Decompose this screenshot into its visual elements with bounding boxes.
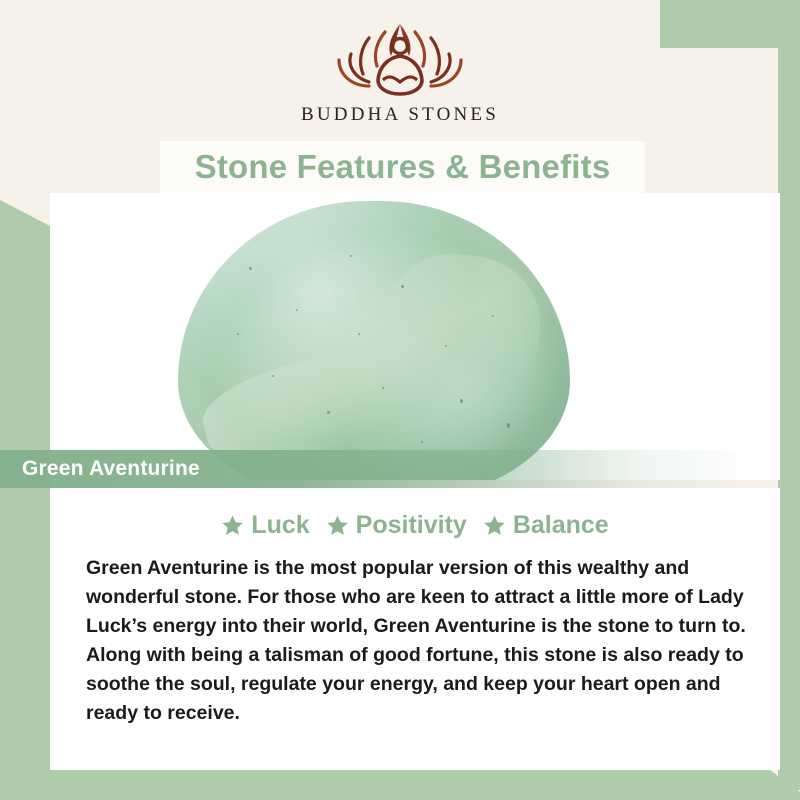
keyword-balance: Balance <box>483 511 609 540</box>
brand-name: BUDDHA STONES <box>280 104 520 126</box>
stone-name-label: Green Aventurine <box>22 457 200 481</box>
stone-description: Green Aventurine is the most popular ver… <box>50 554 780 728</box>
brand-logo: BUDDHA STONES <box>280 16 520 126</box>
keyword-positivity: Positivity <box>326 511 467 540</box>
keyword-label: Luck <box>251 511 309 540</box>
keyword-luck: Luck <box>221 511 309 540</box>
star-icon <box>326 514 349 537</box>
green-aventurine-stone-image <box>178 201 570 480</box>
star-icon <box>483 514 506 537</box>
keyword-label: Balance <box>513 511 609 540</box>
frame-band-left <box>0 200 50 780</box>
stone-image-stage <box>50 193 780 480</box>
stone-label-banner: Green Aventurine <box>0 450 760 488</box>
keyword-label: Positivity <box>356 511 467 540</box>
content-area: Luck Positivity Balance Green Aventurine… <box>50 488 780 770</box>
frame-band-bottom <box>0 770 800 800</box>
header: BUDDHA STONES <box>0 0 800 140</box>
infographic-page: BUDDHA STONES Stone Features & Benefits <box>0 0 800 800</box>
title-panel: Stone Features & Benefits <box>160 141 645 193</box>
keyword-list: Luck Positivity Balance <box>50 511 780 540</box>
lotus-meditation-icon <box>325 16 475 100</box>
star-icon <box>221 514 244 537</box>
page-title: Stone Features & Benefits <box>195 148 611 186</box>
